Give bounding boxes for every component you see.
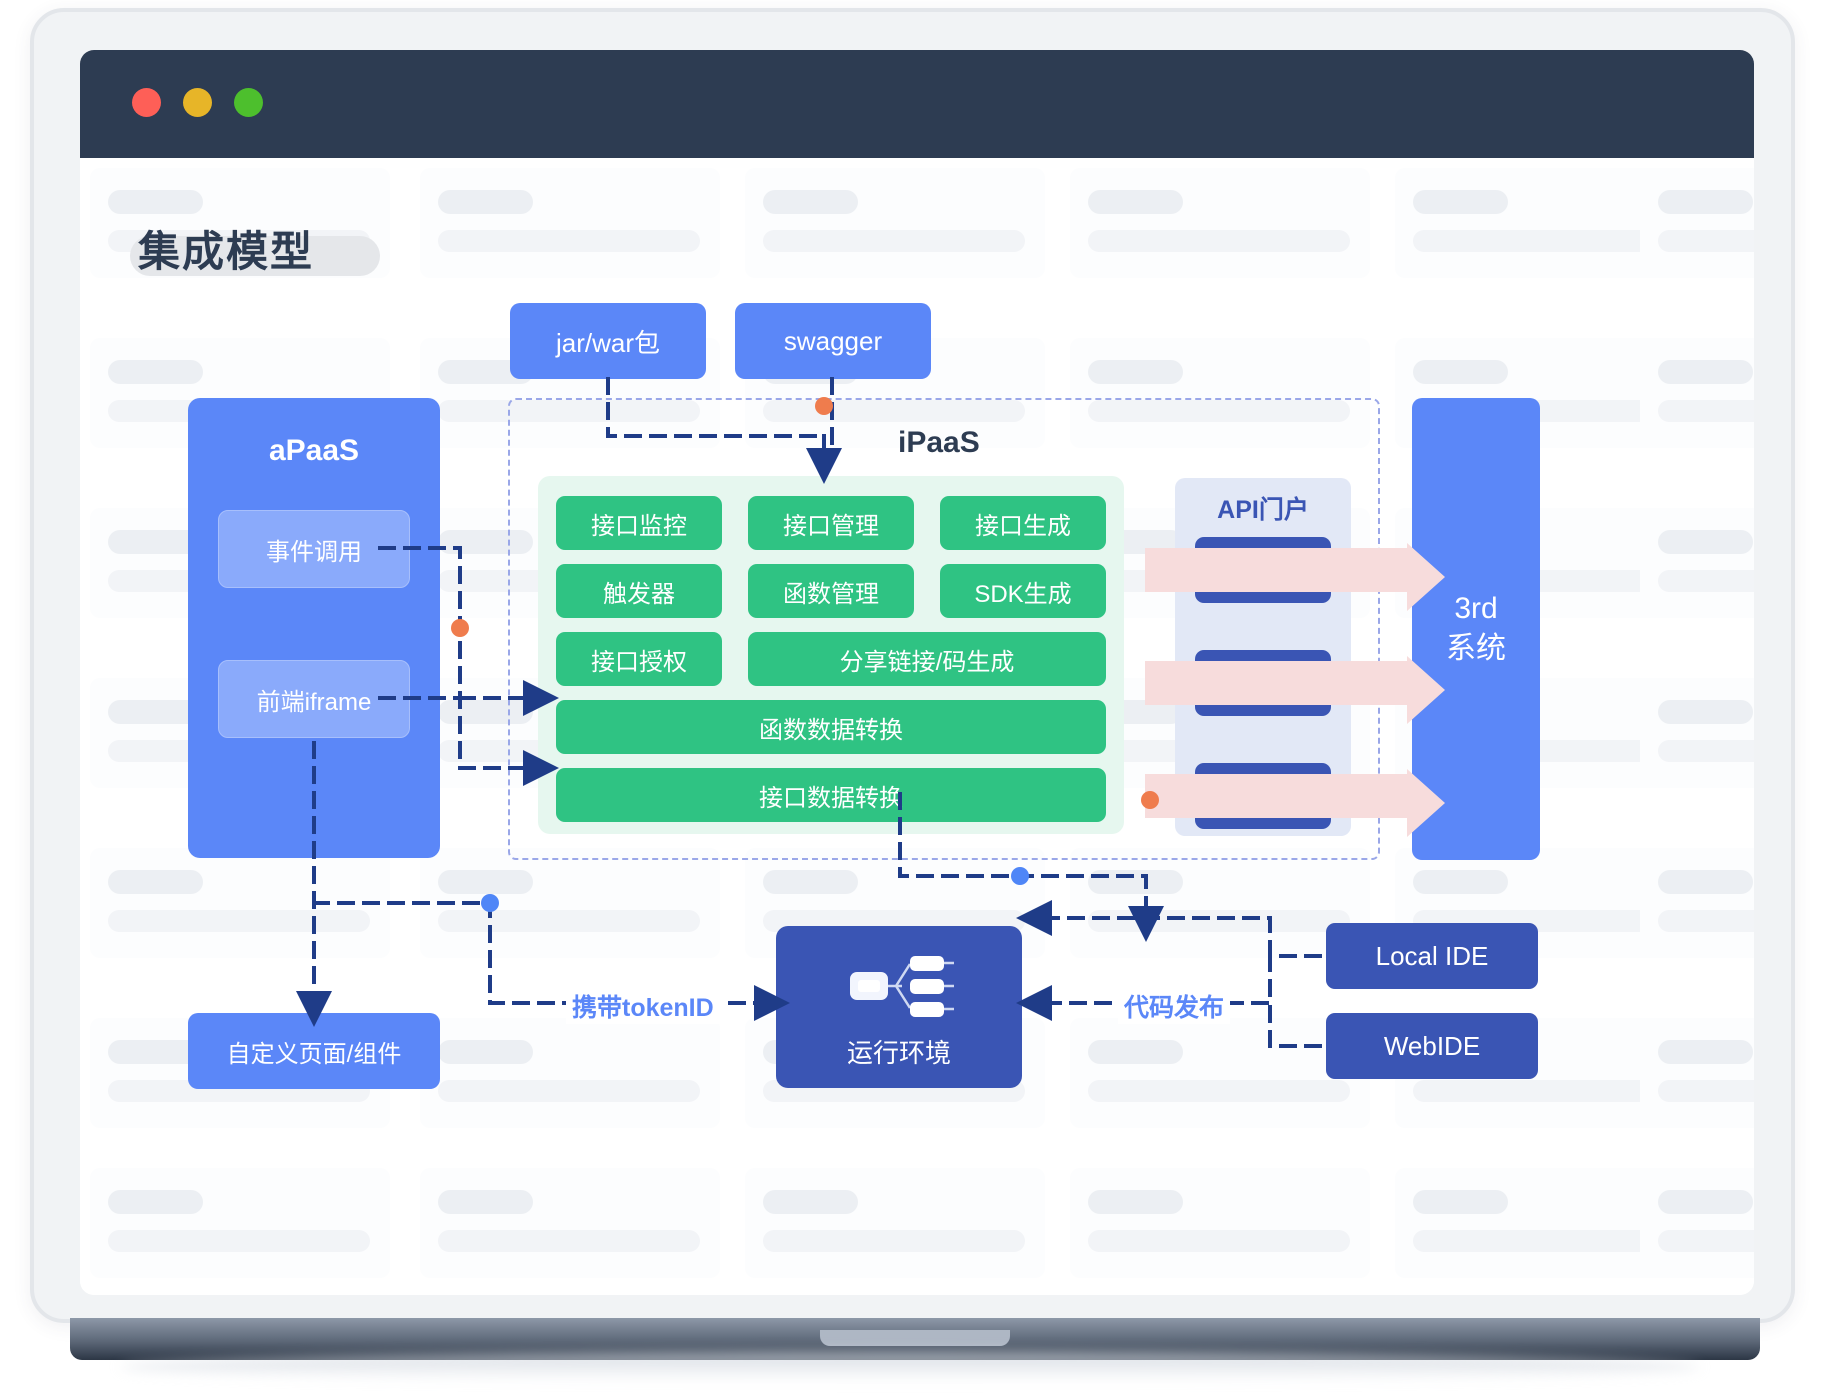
source-jar-war[interactable]: jar/war包 bbox=[510, 303, 706, 379]
pink-flow-arrowhead-1 bbox=[1407, 543, 1445, 611]
cap-function-data-transform[interactable]: 函数数据转换 bbox=[556, 700, 1106, 754]
local-ide[interactable]: Local IDE bbox=[1326, 923, 1538, 989]
edge-label-token: 携带tokenID bbox=[566, 988, 720, 1024]
pink-flow-arrow-1 bbox=[1145, 548, 1407, 592]
cap-interface-management[interactable]: 接口管理 bbox=[748, 496, 914, 550]
wire-local-ide bbox=[1220, 956, 1320, 1003]
cap-interface-management-label: 接口管理 bbox=[783, 506, 879, 541]
wire-web-ide bbox=[1270, 1003, 1320, 1046]
page-canvas: 集成模型 iPaaS jar/war包 swagger bbox=[80, 158, 1754, 1295]
apaas-panel[interactable]: aPaaS 事件调用 前端iframe bbox=[188, 398, 440, 858]
close-button[interactable] bbox=[132, 88, 161, 117]
wire-ide-to-runtime bbox=[1040, 918, 1270, 956]
laptop-shadow bbox=[120, 1352, 1700, 1382]
maximize-button[interactable] bbox=[234, 88, 263, 117]
cap-function-management-label: 函数管理 bbox=[783, 574, 879, 609]
apaas-item-frontend-iframe[interactable]: 前端iframe bbox=[218, 660, 410, 738]
branch-tree-icon bbox=[848, 950, 958, 1022]
cap-interface-generation-label: 接口生成 bbox=[975, 506, 1071, 541]
custom-page-component-label: 自定义页面/组件 bbox=[227, 1034, 402, 1069]
wire-dot-blue-left bbox=[481, 894, 499, 912]
cap-trigger-label: 触发器 bbox=[603, 574, 675, 609]
cap-interface-authorization[interactable]: 接口授权 bbox=[556, 632, 722, 686]
pink-flow-arrow-2 bbox=[1145, 661, 1407, 705]
pink-flow-arrow-3 bbox=[1145, 774, 1407, 818]
apaas-title: aPaaS bbox=[269, 434, 359, 468]
web-ide-label: WebIDE bbox=[1384, 1031, 1480, 1062]
cap-function-data-transform-label: 函数数据转换 bbox=[759, 710, 903, 745]
cap-sdk-generation[interactable]: SDK生成 bbox=[940, 564, 1106, 618]
web-ide[interactable]: WebIDE bbox=[1326, 1013, 1538, 1079]
cap-share-link-code-label: 分享链接/码生成 bbox=[840, 642, 1015, 677]
browser-titlebar bbox=[80, 50, 1754, 158]
laptop-notch bbox=[820, 1330, 1010, 1346]
cap-interface-data-transform[interactable]: 接口数据转换 bbox=[556, 768, 1106, 822]
apaas-item-frontend-iframe-label: 前端iframe bbox=[257, 682, 372, 717]
cap-function-management[interactable]: 函数管理 bbox=[748, 564, 914, 618]
cap-interface-data-transform-label: 接口数据转换 bbox=[759, 778, 903, 813]
runtime-environment-label: 运行环境 bbox=[847, 1033, 951, 1070]
cap-sdk-generation-label: SDK生成 bbox=[974, 574, 1071, 609]
minimize-button[interactable] bbox=[183, 88, 212, 117]
custom-page-component[interactable]: 自定义页面/组件 bbox=[188, 1013, 440, 1089]
edge-label-code-publish: 代码发布 bbox=[1118, 988, 1230, 1024]
cap-interface-monitoring-label: 接口监控 bbox=[591, 506, 687, 541]
cap-interface-generation[interactable]: 接口生成 bbox=[940, 496, 1106, 550]
ipaas-title: iPaaS bbox=[898, 426, 980, 460]
cap-share-link-code[interactable]: 分享链接/码生成 bbox=[748, 632, 1106, 686]
page-title: 集成模型 bbox=[138, 218, 314, 279]
pink-flow-arrowhead-3 bbox=[1407, 769, 1445, 837]
browser-window: 集成模型 iPaaS jar/war包 swagger bbox=[80, 50, 1754, 1295]
cap-interface-authorization-label: 接口授权 bbox=[591, 642, 687, 677]
wire-dot-blue-mid bbox=[1011, 867, 1029, 885]
apaas-item-event-call-label: 事件调用 bbox=[266, 532, 362, 567]
api-portal-title: API门户 bbox=[1175, 490, 1351, 526]
source-swagger-label: swagger bbox=[784, 326, 882, 357]
source-swagger[interactable]: swagger bbox=[735, 303, 931, 379]
third-party-line1: 3rd bbox=[1454, 589, 1497, 630]
laptop-device-frame: 集成模型 iPaaS jar/war包 swagger bbox=[30, 8, 1795, 1323]
cap-trigger[interactable]: 触发器 bbox=[556, 564, 722, 618]
wire-dot-orange-left bbox=[451, 619, 469, 637]
third-party-line2: 系统 bbox=[1446, 629, 1506, 670]
cap-interface-monitoring[interactable]: 接口监控 bbox=[556, 496, 722, 550]
apaas-item-event-call[interactable]: 事件调用 bbox=[218, 510, 410, 588]
integration-diagram: iPaaS jar/war包 swagger aPaaS 事件调用 前端ifra… bbox=[80, 158, 1754, 1295]
source-jar-war-label: jar/war包 bbox=[556, 323, 660, 360]
pink-flow-arrowhead-2 bbox=[1407, 656, 1445, 724]
window-controls bbox=[132, 88, 263, 117]
local-ide-label: Local IDE bbox=[1376, 941, 1489, 972]
